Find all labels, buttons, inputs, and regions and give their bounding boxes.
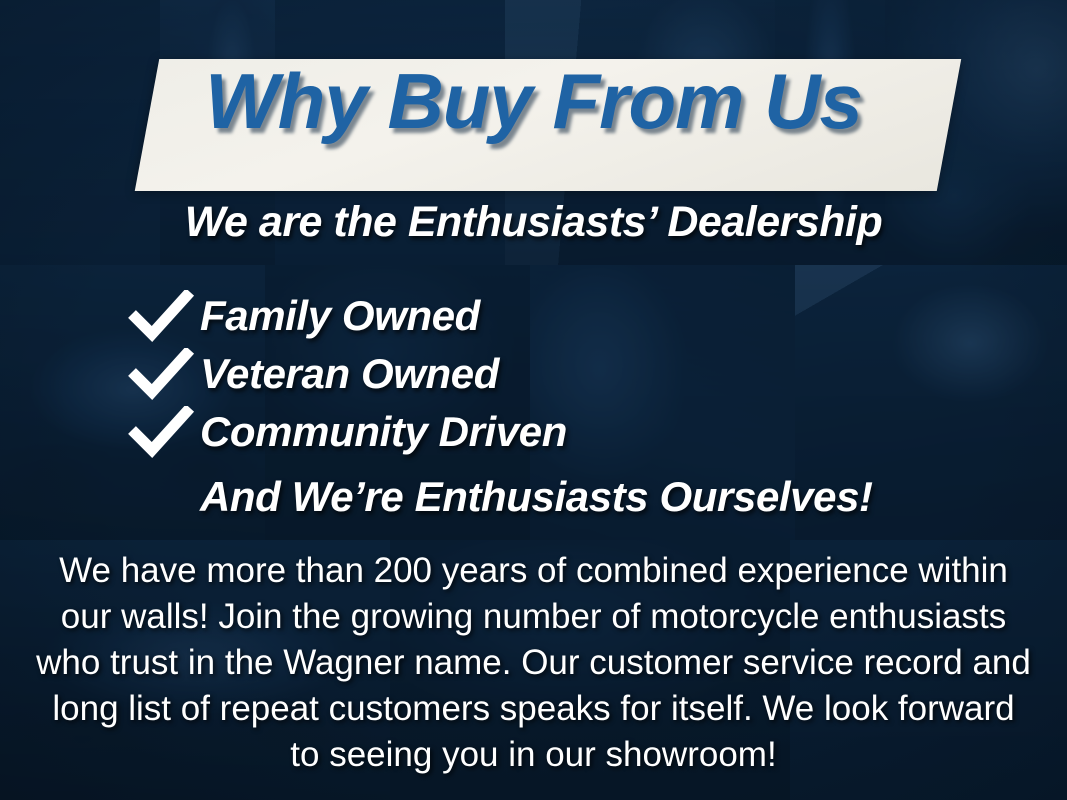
- check-icon: [128, 290, 200, 342]
- list-item: Community Driven: [128, 404, 988, 460]
- body-paragraph: We have more than 200 years of combined …: [34, 548, 1034, 778]
- list-item-label: Family Owned: [200, 295, 480, 337]
- why-buy-from-us-banner: Why Buy From Us We are the Enthusiasts’ …: [0, 0, 1067, 800]
- list-item-label: Community Driven: [200, 411, 567, 453]
- closing-line-row: And We’re Enthusiasts Ourselves!: [128, 468, 988, 526]
- page-subtitle: We are the Enthusiasts’ Dealership: [0, 200, 1067, 245]
- check-icon: [128, 348, 200, 400]
- list-item: Veteran Owned: [128, 346, 988, 402]
- check-icon: [128, 406, 200, 458]
- closing-line: And We’re Enthusiasts Ourselves!: [200, 476, 873, 518]
- page-title: Why Buy From Us: [0, 62, 1067, 140]
- list-item-label: Veteran Owned: [200, 353, 499, 395]
- list-item: Family Owned: [128, 288, 988, 344]
- feature-list: Family Owned Veteran Owned Community Dri…: [128, 288, 988, 526]
- banner-content: Why Buy From Us We are the Enthusiasts’ …: [0, 0, 1067, 800]
